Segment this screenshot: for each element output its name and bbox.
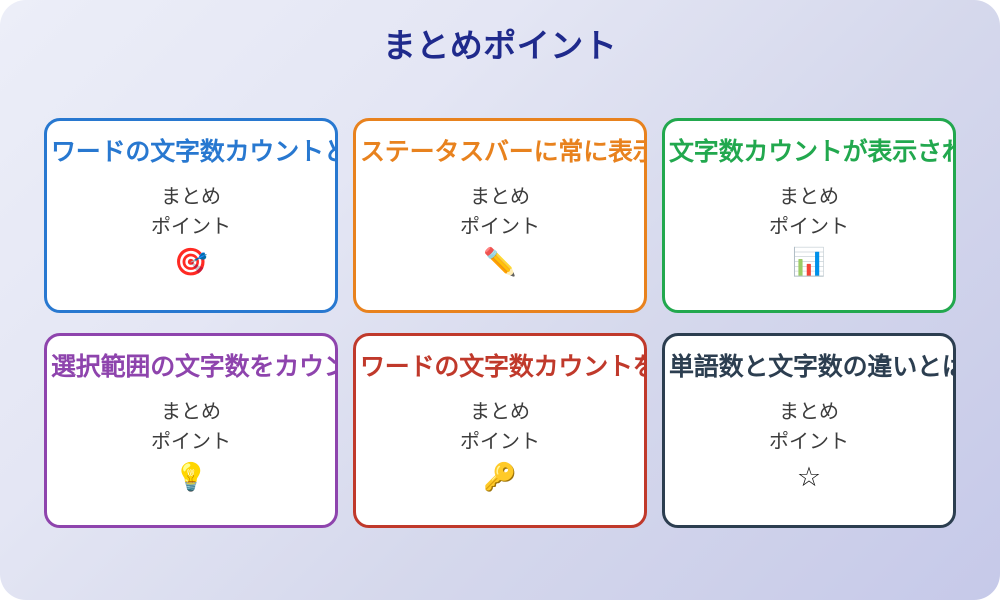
summary-card-body: まとめ ポイント [151,397,231,457]
summary-card-title: ステータスバーに常に表示 [356,136,644,168]
lightbulb-icon: 💡 [174,461,208,493]
summary-card[interactable]: 単語数と文字数の違いとはまとめ ポイント☆ [662,333,956,528]
summary-card-title: ワードの文字数カウントを [356,351,644,383]
summary-point-card-grid: ワードの文字数カウントとまとめ ポイント🎯ステータスバーに常に表示まとめ ポイン… [44,118,956,520]
slide-canvas: まとめポイント ワードの文字数カウントとまとめ ポイント🎯ステータスバーに常に表… [0,0,1000,600]
summary-card-body: まとめ ポイント [769,182,849,242]
summary-card[interactable]: ワードの文字数カウントとまとめ ポイント🎯 [44,118,338,313]
summary-card[interactable]: ワードの文字数カウントをまとめ ポイント🔑 [353,333,647,528]
summary-card-title: 単語数と文字数の違いとは [665,351,953,383]
key-icon: 🔑 [483,461,517,493]
pencil-icon: ✏️ [483,246,517,278]
summary-card-title: ワードの文字数カウントと [47,136,335,168]
summary-card-body: まとめ ポイント [460,397,540,457]
summary-card[interactable]: ステータスバーに常に表示まとめ ポイント✏️ [353,118,647,313]
summary-card-title: 文字数カウントが表示され [665,136,953,168]
summary-card-body: まとめ ポイント [460,182,540,242]
bar-chart-icon: 📊 [792,246,826,278]
star-icon: ☆ [797,461,821,493]
summary-card[interactable]: 選択範囲の文字数をカウンまとめ ポイント💡 [44,333,338,528]
summary-card[interactable]: 文字数カウントが表示されまとめ ポイント📊 [662,118,956,313]
summary-card-title: 選択範囲の文字数をカウン [47,351,335,383]
page-title: まとめポイント [0,24,1000,68]
summary-card-body: まとめ ポイント [769,397,849,457]
target-icon: 🎯 [174,246,208,278]
summary-card-body: まとめ ポイント [151,182,231,242]
